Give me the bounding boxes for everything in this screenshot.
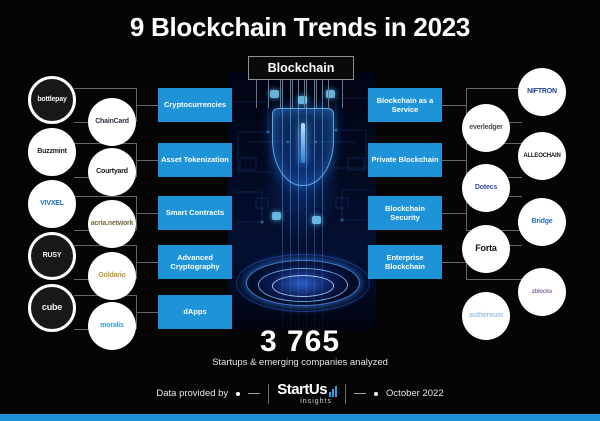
hub-label-blockchain: Blockchain xyxy=(248,56,354,80)
footer-divider-left xyxy=(268,384,269,404)
logo-everledger[interactable]: everledger xyxy=(462,104,510,152)
bullet-dot-icon-2 xyxy=(374,392,378,396)
logo-bridge[interactable]: Bridge xyxy=(518,198,566,246)
startus-insights-logo[interactable]: StartUs insights xyxy=(277,382,337,405)
hub-connector-stems xyxy=(248,78,352,108)
trend-box-blockchain-security[interactable]: Blockchain Security xyxy=(368,196,442,230)
base-ring-3 xyxy=(272,275,334,297)
logo-zblocks[interactable]: zblocks xyxy=(518,268,566,316)
logo-acria-network[interactable]: acria.network xyxy=(88,200,136,248)
footer-provided-by: Data provided by xyxy=(156,388,228,399)
stat-caption: Startups & emerging companies analyzed xyxy=(0,357,600,368)
trend-box-smart-contracts[interactable]: Smart Contracts xyxy=(158,196,232,230)
brand-wordmark: StartUs xyxy=(277,382,337,397)
logo-chaincard[interactable]: ChainCard xyxy=(88,98,136,146)
trend-box-blockchain-as-a-service[interactable]: Blockchain as a Service xyxy=(368,88,442,122)
brand-subtitle: insights xyxy=(300,398,332,405)
logo-buzzmint[interactable]: Buzzmint xyxy=(28,128,76,176)
central-blockchain-illustration xyxy=(228,72,376,330)
logo-courtyard[interactable]: Courtyard xyxy=(88,148,136,196)
trend-box-asset-tokenization[interactable]: Asset Tokenization xyxy=(158,143,232,177)
trend-box-private-blockchain[interactable]: Private Blockchain xyxy=(368,143,442,177)
trend-box-advanced-cryptography[interactable]: Advanced Cryptography xyxy=(158,245,232,279)
logo-niftron[interactable]: NIFTRON xyxy=(518,68,566,116)
trend-box-cryptocurrencies[interactable]: Cryptocurrencies xyxy=(158,88,232,122)
dash-icon xyxy=(248,393,260,394)
logo-vivxel[interactable]: VIVXEL xyxy=(28,180,76,228)
logo-moralis[interactable]: moralis xyxy=(88,302,136,350)
footer-row: Data provided by StartUs insights Octobe… xyxy=(0,382,600,405)
bottom-accent-bar xyxy=(0,414,600,421)
logo-alleochain[interactable]: ALLEOCHAIN xyxy=(518,132,566,180)
brand-name: StartUs xyxy=(277,382,327,397)
logo-authereum[interactable]: authereum xyxy=(462,292,510,340)
trend-box-dapps[interactable]: dApps xyxy=(158,295,232,329)
footer-date: October 2022 xyxy=(386,388,444,399)
bullet-dot-icon xyxy=(236,392,240,396)
logo-bottlepay[interactable]: bottlepay xyxy=(28,76,76,124)
trend-box-enterprise-blockchain[interactable]: Enterprise Blockchain xyxy=(368,245,442,279)
logo-cube[interactable]: cube xyxy=(28,284,76,332)
dash-icon-2 xyxy=(354,393,366,394)
page-title: 9 Blockchain Trends in 2023 xyxy=(0,12,600,43)
logo-rusy[interactable]: RUSY xyxy=(28,232,76,280)
bar-chart-icon xyxy=(329,386,337,397)
footer-divider-right xyxy=(345,384,346,404)
logo-goldario[interactable]: Goldario xyxy=(88,252,136,300)
logo-forta[interactable]: Forta xyxy=(462,225,510,273)
logo-dotecs[interactable]: Dotecs xyxy=(462,164,510,212)
infographic-canvas: 9 Blockchain Trends in 2023 xyxy=(0,0,600,421)
